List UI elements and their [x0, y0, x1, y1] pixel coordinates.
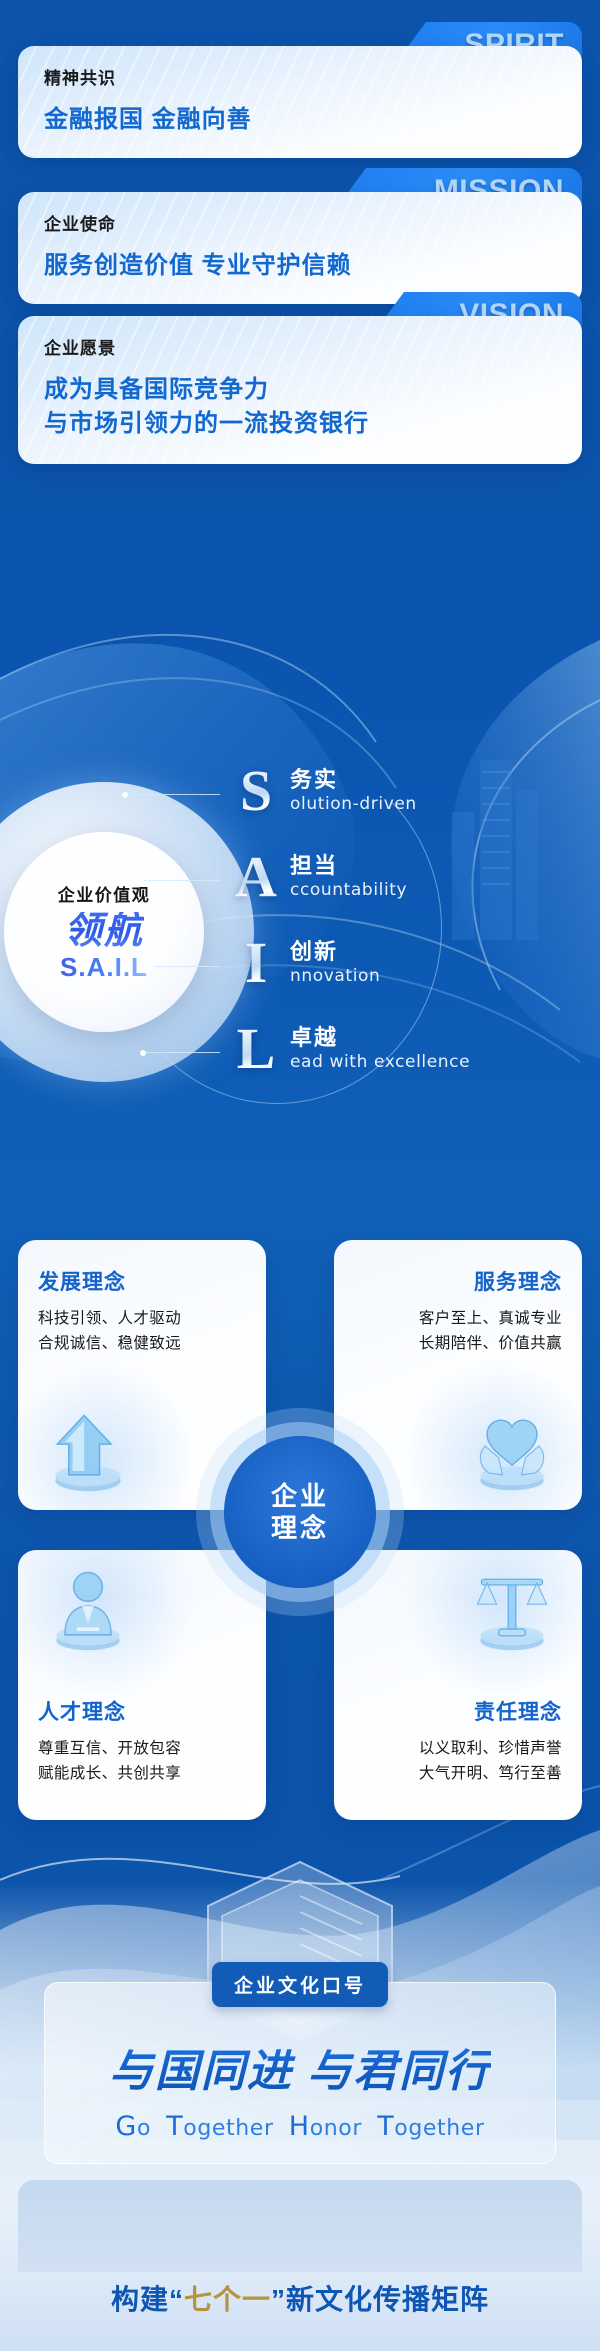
ideas-center-badge: 企业 理念 — [224, 1436, 376, 1588]
idea-line2-responsibility: 大气开明、笃行至善 — [354, 1761, 562, 1786]
idea-card-responsibility: 责任理念 以义取利、珍惜声誉 大气开明、笃行至善 — [334, 1550, 582, 1820]
footer-headline: 构建“七个一”新文化传播矩阵 — [111, 2278, 489, 2318]
slogan-panel: 与国同进 与君同行 Go Together Honor Together — [44, 1982, 556, 2164]
slogan-en-cap-1: G — [115, 2111, 137, 2142]
value-cn-a: 担当 — [290, 848, 338, 880]
footer-post: 新文化传播矩阵 — [286, 2284, 489, 2315]
slogan-en-rest-4: ogether — [394, 2116, 484, 2141]
value-en-a: ccountability — [290, 880, 407, 900]
ideas-center-line-1: 企业 — [271, 1480, 329, 1512]
value-cn-l: 卓越 — [290, 1020, 338, 1052]
values-hub-title: 企业价值观 — [58, 881, 151, 906]
slogan-en-rest-1: o — [137, 2116, 151, 2141]
value-letter-a: A — [226, 848, 286, 906]
person-bust-icon — [40, 1560, 136, 1656]
corporate-ideas-section: 发展理念 科技引领、人才驱动 合规诚信、稳健致远 服务理念 客户至上、真诚专业 … — [0, 1240, 600, 1880]
value-cn-i: 创新 — [290, 934, 338, 966]
value-item-a: A 担当 ccountability — [226, 846, 600, 932]
mission-label: 企业使命 — [44, 210, 556, 235]
idea-line2-service: 长期陪伴、价值共赢 — [354, 1331, 562, 1356]
scales-balance-icon — [464, 1560, 560, 1656]
value-en-i: nnovation — [290, 966, 380, 986]
slogan-pill-label: 企业文化口号 — [212, 1962, 388, 2007]
slogan-en-cap-4: T — [377, 2111, 394, 2142]
idea-line1-development: 科技引领、人才驱动 — [38, 1306, 246, 1331]
value-item-i: I 创新 nnovation — [226, 932, 600, 1018]
values-hub-cn: 领航 — [64, 912, 144, 952]
value-item-s: S 务实 olution-driven — [226, 760, 600, 846]
spirit-label: 精神共识 — [44, 64, 556, 89]
idea-title-talent: 人才理念 — [38, 1696, 246, 1726]
value-letter-s: S — [226, 762, 286, 820]
idea-title-service: 服务理念 — [354, 1266, 562, 1296]
heart-in-hands-icon — [464, 1400, 560, 1496]
idea-line2-talent: 赋能成长、共创共享 — [38, 1761, 246, 1786]
core-values-section: 企业价值观 领航 S.A.I.L S 务实 olution-driven A 担… — [0, 760, 600, 1100]
value-cn-s: 务实 — [290, 762, 338, 794]
ideas-center-line-2: 理念 — [271, 1512, 329, 1544]
slogan-chinese: 与国同进 与君同行 — [109, 2035, 491, 2099]
idea-card-development: 发展理念 科技引领、人才驱动 合规诚信、稳健致远 — [18, 1240, 266, 1510]
idea-line1-service: 客户至上、真诚专业 — [354, 1306, 562, 1331]
values-list: S 务实 olution-driven A 担当 ccountability I… — [226, 760, 600, 1104]
value-letter-l: L — [226, 1020, 286, 1078]
ship-wheel-icon: 企业价值观 领航 S.A.I.L — [0, 782, 254, 1082]
idea-card-talent: 人才理念 尊重互信、开放包容 赋能成长、共创共享 — [18, 1550, 266, 1820]
growth-arrow-icon — [40, 1400, 136, 1496]
mission-main: 服务创造价值 专业守护信赖 — [44, 249, 556, 283]
slogan-en-cap-3: H — [289, 2111, 310, 2142]
vision-main-line-1: 成为具备国际竞争力 — [44, 373, 556, 407]
idea-title-development: 发展理念 — [38, 1266, 246, 1296]
footer-highlight: 七个一 — [184, 2284, 271, 2315]
vision-card: VISION 企业愿景 成为具备国际竞争力 与市场引领力的一流投资银行 — [18, 292, 582, 464]
values-hub: 企业价值观 领航 S.A.I.L — [4, 832, 204, 1032]
connector-line-i — [154, 966, 220, 967]
footer-quote-open: “ — [169, 2284, 184, 2315]
idea-title-responsibility: 责任理念 — [354, 1696, 562, 1726]
values-hub-en: S.A.I.L — [60, 952, 148, 983]
spirit-card: SPIRIT 精神共识 金融报国 金融向善 — [18, 22, 582, 158]
slogan-en-rest-3: onor — [310, 2116, 362, 2141]
footer-quote-close: ” — [271, 2284, 286, 2315]
footer-pre: 构建 — [111, 2284, 169, 2315]
connector-line-a — [144, 880, 220, 881]
idea-card-service: 服务理念 客户至上、真诚专业 长期陪伴、价值共赢 — [334, 1240, 582, 1510]
spirit-main: 金融报国 金融向善 — [44, 103, 556, 137]
idea-line1-talent: 尊重互信、开放包容 — [38, 1736, 246, 1761]
mission-card: MISSION 企业使命 服务创造价值 专业守护信赖 — [18, 168, 582, 304]
idea-line2-development: 合规诚信、稳健致远 — [38, 1331, 246, 1356]
vision-label: 企业愿景 — [44, 334, 556, 359]
slogan-en-rest-2: ogether — [183, 2116, 273, 2141]
idea-line1-responsibility: 以义取利、珍惜声誉 — [354, 1736, 562, 1761]
connector-line-l — [146, 1052, 220, 1053]
value-en-l: ead with excellence — [290, 1052, 470, 1072]
footer-section: 构建“七个一”新文化传播矩阵 — [0, 2245, 600, 2351]
value-en-s: olution-driven — [290, 794, 417, 814]
slogan-en-cap-2: T — [166, 2111, 183, 2142]
connector-line-s — [128, 794, 220, 795]
value-item-l: L 卓越 ead with excellence — [226, 1018, 600, 1104]
value-letter-i: I — [226, 934, 286, 992]
vision-main-line-2: 与市场引领力的一流投资银行 — [44, 407, 556, 441]
slogan-english: Go Together Honor Together — [115, 2111, 484, 2142]
